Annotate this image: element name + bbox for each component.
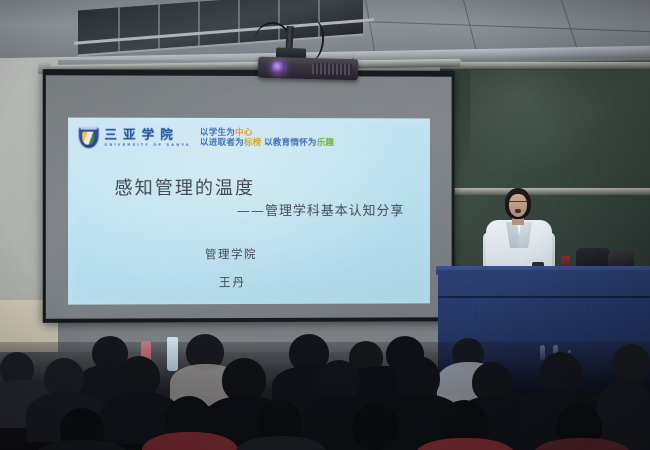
slogan-2-highlight-a: 标榜 — [244, 137, 262, 147]
projector-icon — [258, 57, 359, 81]
screen-surface: 三亚学院 UNIVERSITY OF SANYA 以学生为中心 以进取者为标榜 … — [46, 75, 452, 319]
podium-seam — [438, 296, 650, 298]
projector-lens — [272, 61, 285, 74]
chalkboard-top-rail — [440, 62, 650, 69]
university-slogan: 以学生为中心 以进取者为标榜 以教育情怀为乐趣 — [200, 128, 334, 148]
university-name: 三亚学院 UNIVERSITY OF SANYA — [104, 129, 190, 147]
water-bottle — [167, 337, 178, 371]
slogan-1-plain: 以学生为 — [200, 127, 235, 137]
projection-screen: 三亚学院 UNIVERSITY OF SANYA 以学生为中心 以进取者为标榜 … — [43, 69, 455, 323]
slogan-1-highlight: 中心 — [235, 127, 253, 137]
university-name-cn: 三亚学院 — [104, 129, 190, 142]
speaker-mouth — [515, 209, 521, 213]
slide-title: 感知管理的温度 — [114, 174, 255, 200]
slide-organization: 管理学院 — [205, 246, 257, 262]
slogan-line-2: 以进取者为标榜 以教育情怀为乐趣 — [200, 138, 334, 148]
slide-subtitle: ——管理学科基本认知分享 — [237, 200, 404, 219]
chalkboard-middle-rail — [440, 188, 650, 195]
lecture-hall-photo: 三亚学院 UNIVERSITY OF SANYA 以学生为中心 以进取者为标榜 … — [0, 0, 650, 450]
slogan-2-highlight-b: 乐趣 — [317, 137, 335, 147]
audience-head — [612, 344, 650, 384]
chalkboard-glare — [470, 70, 620, 180]
slide-author: 王丹 — [219, 274, 246, 290]
audience-head — [352, 404, 398, 450]
projected-slide: 三亚学院 UNIVERSITY OF SANYA 以学生为中心 以进取者为标榜 … — [68, 118, 430, 305]
slide-header: 三亚学院 UNIVERSITY OF SANYA 以学生为中心 以进取者为标榜 … — [78, 125, 424, 152]
slogan-2-plain-a: 以进取者为 — [200, 137, 244, 147]
university-crest-icon — [78, 127, 99, 149]
university-name-en: UNIVERSITY OF SANYA — [104, 143, 190, 147]
slogan-2-plain-b: 以教育情怀为 — [261, 137, 316, 147]
glasses-icon — [509, 201, 527, 206]
projector-vent — [312, 63, 352, 75]
